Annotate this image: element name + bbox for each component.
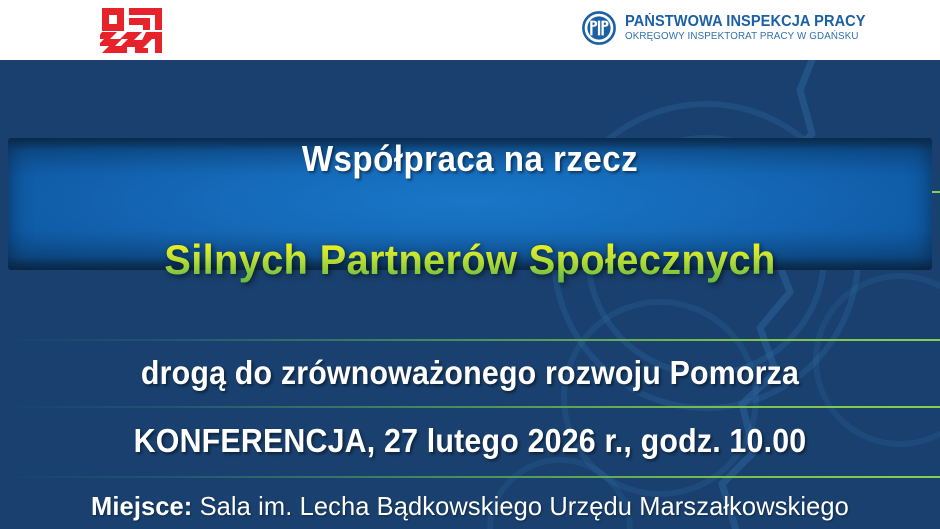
venue-value: Sala im. Lecha Bądkowskiego Urzędu Marsz… [200, 491, 849, 521]
pip-title: PAŃSTWOWA INSPEKCJA PRACY [625, 14, 866, 30]
poster-body: Współpraca na rzecz Silnych Partnerów Sp… [0, 60, 940, 529]
venue-label: Miejsce: [91, 491, 192, 521]
divider-rule-3 [0, 406, 940, 408]
poster-conference-line: KONFERENCJA, 27 lutego 2026 r., godz. 10… [38, 422, 903, 460]
pip-mark-icon [582, 11, 616, 45]
venue-spacer [192, 491, 199, 521]
pomorskie-logo-icon [100, 7, 166, 53]
poster-venue-line: Miejsce: Sala im. Lecha Bądkowskiego Urz… [9, 491, 930, 522]
logo-bar: PAŃSTWOWA INSPEKCJA PRACY OKRĘGOWY INSPE… [0, 0, 940, 60]
conference-poster: Współpraca na rzecz Silnych Partnerów Sp… [0, 0, 940, 529]
poster-highlight-text: Silnych Partnerów Społecznych [24, 236, 917, 284]
pip-subtitle: OKRĘGOWY INSPEKTORAT PRACY W GDAŃSKU [625, 32, 868, 42]
divider-rule-2 [0, 339, 940, 341]
poster-headline: Współpraca na rzecz [38, 138, 903, 180]
pip-text-block: PAŃSTWOWA INSPEKCJA PRACY OKRĘGOWY INSPE… [625, 14, 881, 43]
poster-subtitle: drogą do zrównoważonego rozwoju Pomorza [38, 354, 903, 392]
pip-logo: PAŃSTWOWA INSPEKCJA PRACY OKRĘGOWY INSPE… [582, 11, 881, 45]
divider-rule-4 [0, 476, 940, 478]
